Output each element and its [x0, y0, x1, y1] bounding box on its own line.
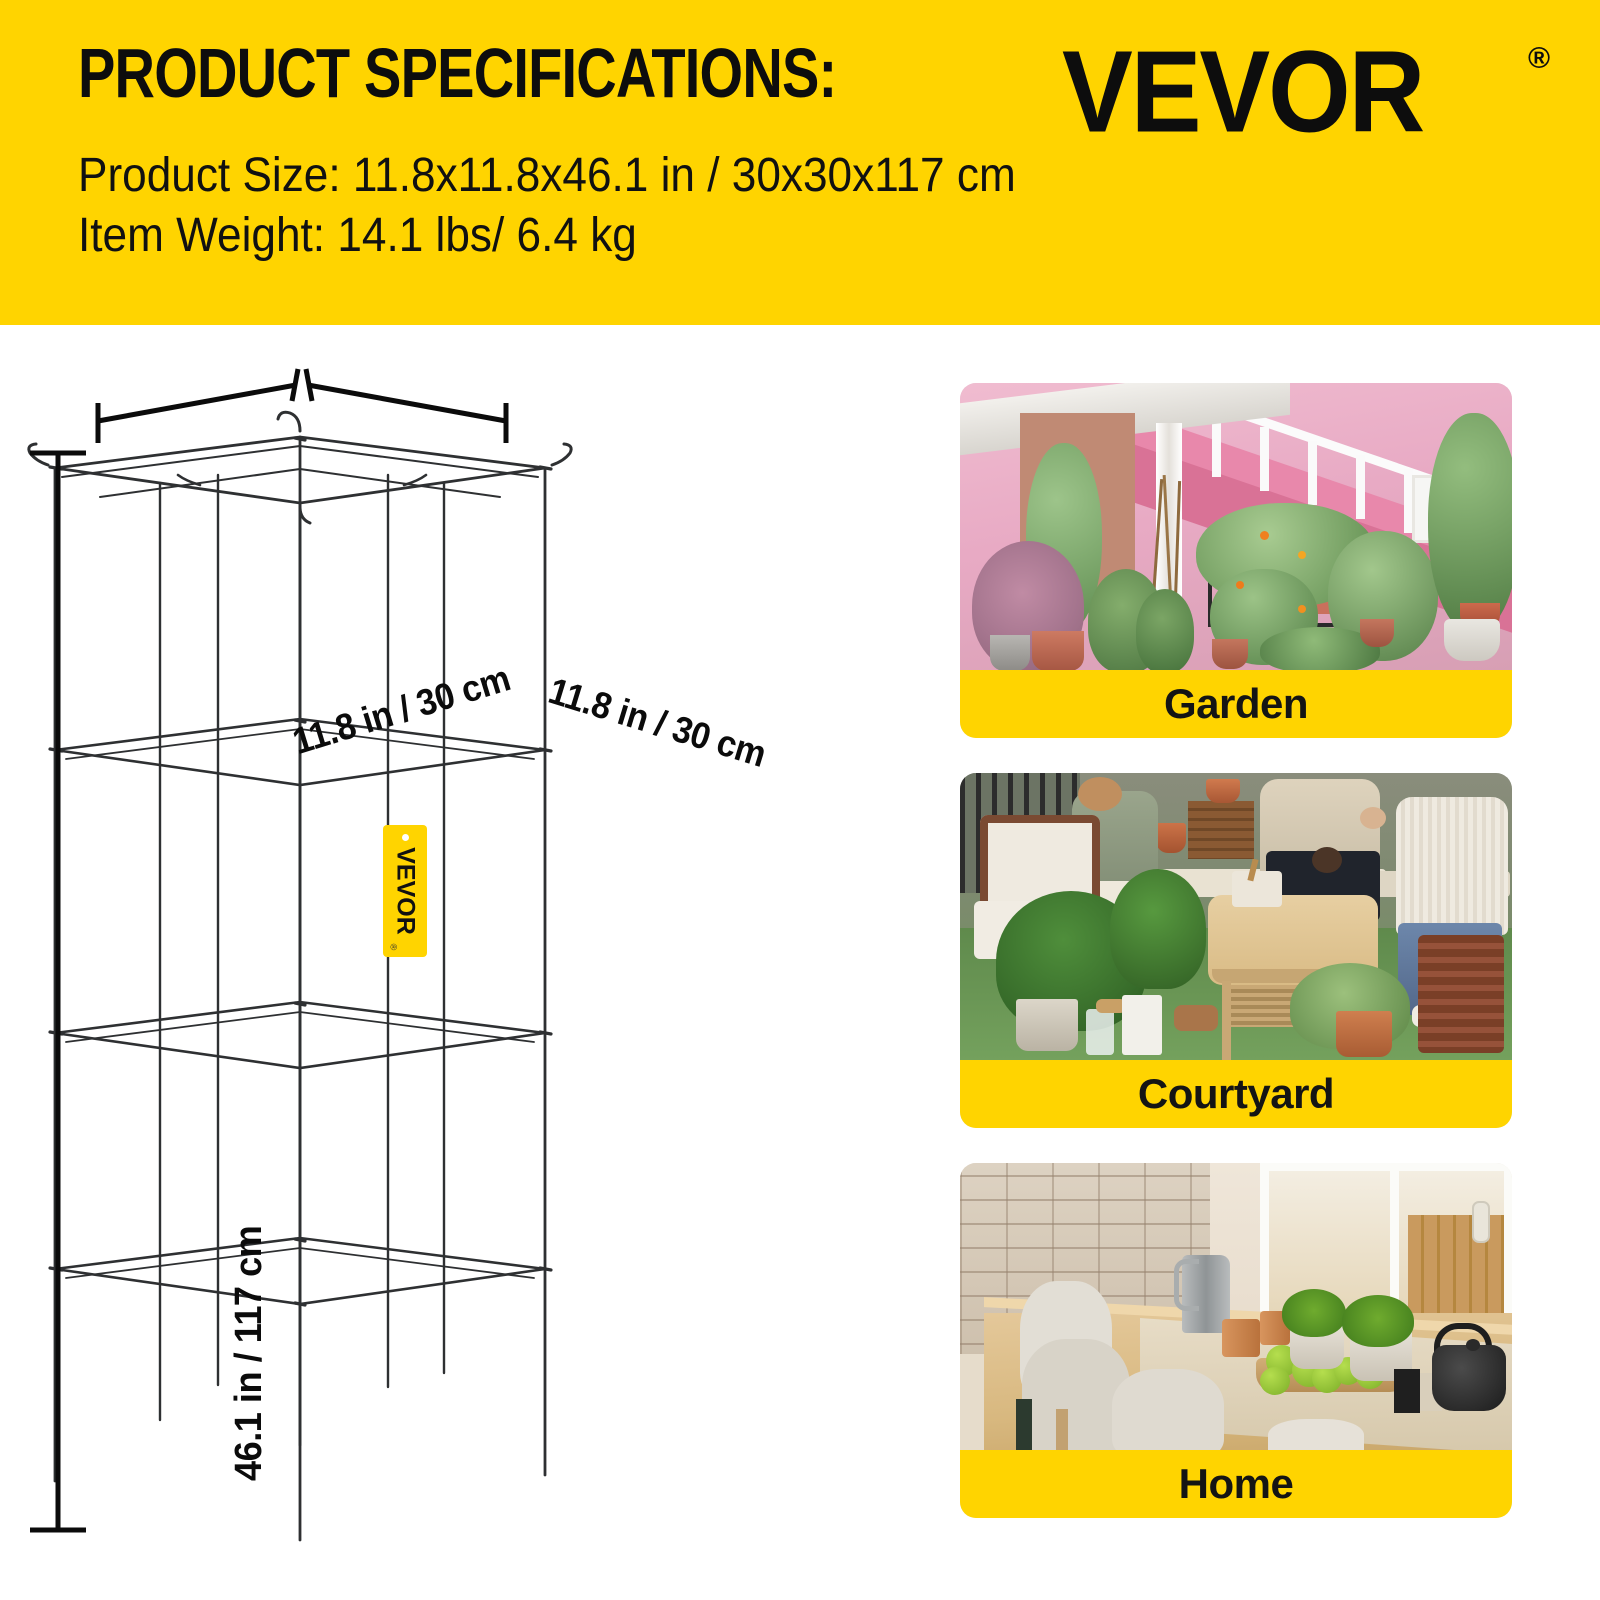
page-title: PRODUCT SPECIFICATIONS: — [78, 38, 836, 108]
spec-product-size: Product Size: 11.8x11.8x46.1 in / 30x30x… — [78, 152, 1016, 200]
spec-item-weight: Item Weight: 14.1 lbs/ 6.4 kg — [78, 212, 637, 260]
dimension-label-height: 46.1 in / 117 cm — [228, 1226, 271, 1481]
registered-trademark-icon: ® — [1528, 42, 1550, 76]
scene-card-home[interactable]: Home — [960, 1163, 1512, 1518]
hang-tag-hole-icon — [402, 834, 409, 841]
scene-caption-garden: Garden — [960, 670, 1512, 738]
hang-tag-brand: VEVOR — [391, 847, 420, 935]
vevor-logo: VEVOR — [1062, 34, 1423, 150]
scene-caption-courtyard: Courtyard — [960, 1060, 1512, 1128]
scene-caption-home: Home — [960, 1450, 1512, 1518]
header-band: PRODUCT SPECIFICATIONS: Product Size: 11… — [0, 0, 1600, 325]
scene-card-courtyard[interactable]: Courtyard — [960, 773, 1512, 1128]
scene-card-garden[interactable]: Garden — [960, 383, 1512, 738]
tomato-cage-illustration — [0, 325, 930, 1600]
scene-photo-home — [960, 1163, 1512, 1450]
vevor-hang-tag: VEVOR ® — [383, 825, 427, 957]
hang-tag-registered-icon: ® — [388, 944, 398, 951]
scene-photo-garden — [960, 383, 1512, 670]
product-diagram-panel: 11.8 in / 30 cm 11.8 in / 30 cm 46.1 in … — [0, 325, 930, 1600]
scene-photo-courtyard — [960, 773, 1512, 1060]
